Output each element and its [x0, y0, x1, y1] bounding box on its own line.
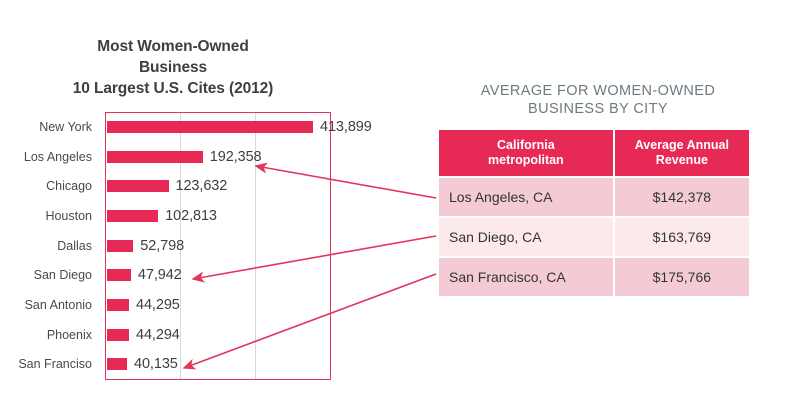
bar-track: 44,295: [107, 290, 180, 320]
bar-fill: [107, 240, 133, 252]
bar-track: 102,813: [107, 201, 217, 231]
chart-title-line-2: Business: [8, 57, 338, 78]
column-header-revenue-line-2: Revenue: [656, 153, 708, 167]
bar-row: Houston102,813: [0, 201, 400, 231]
table-header: California metropolitan Average Annual R…: [439, 130, 749, 176]
bar-rows: New York413,899Los Angeles192,358Chicago…: [0, 112, 400, 380]
column-header-city-line-2: metropolitan: [488, 153, 564, 167]
bar-fill: [107, 151, 203, 163]
chart-title-line-1: Most Women-Owned: [8, 36, 338, 57]
bar-fill: [107, 299, 129, 311]
bar-category-label: Phoenix: [0, 320, 98, 350]
infographic-root: Most Women-Owned Business 10 Largest U.S…: [0, 0, 796, 402]
bar-fill: [107, 210, 158, 222]
bar-category-label: San Antonio: [0, 290, 98, 320]
table-row: Los Angeles, CA$142,378: [439, 178, 749, 216]
bar-chart-panel: Most Women-Owned Business 10 Largest U.S…: [0, 0, 400, 402]
cell-city: Los Angeles, CA: [439, 178, 613, 216]
bar-category-label: Chicago: [0, 171, 98, 201]
bar-track: 44,294: [107, 320, 180, 350]
bar-fill: [107, 269, 131, 281]
bar-track: 40,135: [107, 350, 178, 380]
bar-value-label: 413,899: [320, 119, 372, 135]
column-header-revenue-line-1: Average Annual: [635, 138, 729, 152]
table-row: San Francisco, CA$175,766: [439, 258, 749, 296]
chart-title: Most Women-Owned Business 10 Largest U.S…: [8, 36, 338, 99]
column-header-city: California metropolitan: [439, 130, 613, 176]
bar-fill: [107, 329, 129, 341]
bar-value-label: 52,798: [140, 238, 184, 254]
cell-revenue: $142,378: [615, 178, 749, 216]
bar-value-label: 47,942: [138, 267, 182, 283]
bar-category-label: Dallas: [0, 231, 98, 261]
cell-revenue: $175,766: [615, 258, 749, 296]
table-header-row: California metropolitan Average Annual R…: [439, 130, 749, 176]
table-body: Los Angeles, CA$142,378San Diego, CA$163…: [439, 178, 749, 296]
bar-track: 413,899: [107, 112, 372, 142]
bar-category-label: San Diego: [0, 260, 98, 290]
cell-city: San Diego, CA: [439, 218, 613, 256]
bar-track: 123,632: [107, 171, 227, 201]
bar-value-label: 44,295: [136, 297, 180, 313]
revenue-table: California metropolitan Average Annual R…: [437, 128, 751, 298]
bar-row: Phoenix44,294: [0, 320, 400, 350]
bar-category-label: Los Angeles: [0, 142, 98, 172]
bar-track: 52,798: [107, 231, 184, 261]
table-heading-line-2: BUSINESS BY CITY: [418, 100, 778, 118]
bar-track: 192,358: [107, 142, 262, 172]
bar-category-label: San Franciso: [0, 350, 98, 380]
bar-row: Dallas52,798: [0, 231, 400, 261]
cell-city: San Francisco, CA: [439, 258, 613, 296]
column-header-revenue: Average Annual Revenue: [615, 130, 749, 176]
table-heading-line-1: AVERAGE FOR WOMEN-OWNED: [418, 82, 778, 100]
bar-fill: [107, 180, 169, 192]
table-heading: AVERAGE FOR WOMEN-OWNED BUSINESS BY CITY: [418, 82, 778, 118]
chart-title-line-3: 10 Largest U.S. Cites (2012): [8, 78, 338, 99]
bar-fill: [107, 121, 313, 133]
bar-category-label: New York: [0, 112, 98, 142]
bar-row: San Franciso40,135: [0, 350, 400, 380]
bar-category-label: Houston: [0, 201, 98, 231]
table-panel: AVERAGE FOR WOMEN-OWNED BUSINESS BY CITY…: [400, 0, 796, 402]
cell-revenue: $163,769: [615, 218, 749, 256]
bar-row: New York413,899: [0, 112, 400, 142]
bar-value-label: 123,632: [176, 178, 228, 194]
bar-value-label: 192,358: [210, 149, 262, 165]
bar-track: 47,942: [107, 260, 182, 290]
bar-fill: [107, 358, 127, 370]
bar-row: San Diego47,942: [0, 260, 400, 290]
column-header-city-line-1: California: [497, 138, 555, 152]
bar-value-label: 44,294: [136, 327, 180, 343]
table-row: San Diego, CA$163,769: [439, 218, 749, 256]
bar-row: San Antonio44,295: [0, 290, 400, 320]
bar-row: Los Angeles192,358: [0, 142, 400, 172]
bar-value-label: 102,813: [165, 208, 217, 224]
bar-value-label: 40,135: [134, 356, 178, 372]
bar-row: Chicago123,632: [0, 171, 400, 201]
